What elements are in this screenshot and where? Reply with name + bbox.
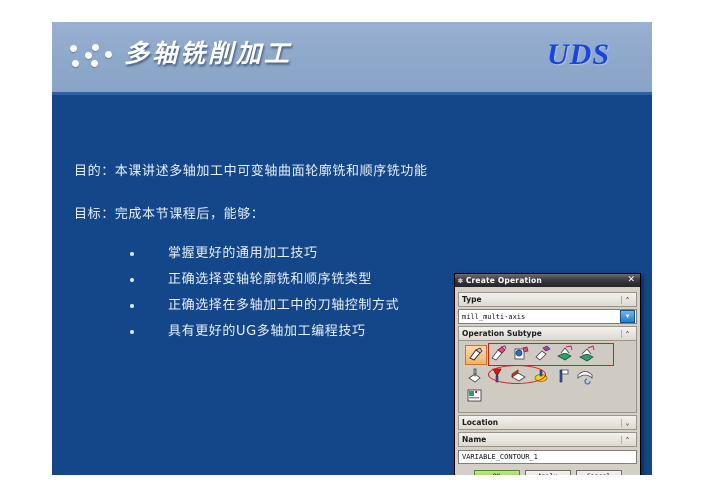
close-icon[interactable]: ✕ [625,276,637,285]
brand-logo: UDS [547,38,610,72]
dialog-titlebar[interactable]: ✽ Create Operation ✕ [455,274,640,287]
variable-contour-selected-icon[interactable] [465,345,487,365]
decorative-dots-icon [70,42,120,72]
drill-axial-icon[interactable] [487,367,507,385]
chevron-up-icon[interactable]: ⌃ [621,330,633,338]
dialog-button-bar: OK Apply Cancel [458,470,637,475]
tool-axis-interpolate-icon[interactable] [531,367,551,385]
dialog-app-icon: ✽ [458,277,463,285]
apply-button[interactable]: Apply [525,470,571,475]
sequential-mill-icon[interactable] [577,345,597,363]
section-label-name: Name [462,435,621,444]
list-item: 掌握更好的通用加工技巧 [130,243,530,269]
chevron-up-icon[interactable]: ⌃ [621,296,633,304]
subtype-icon-row-3 [465,387,633,405]
name-input-value: VARIABLE_CONTOUR_1 [459,453,538,461]
list-item-label: 正确选择变轴轮廓铣和顺序铣类型 [168,268,372,287]
goal-line: 目标：完成本节课程后，能够： [74,203,264,222]
operation-subtype-panel [458,341,637,413]
list-item-label: 掌握更好的通用加工技巧 [168,242,318,261]
chevron-down-icon[interactable]: ⌄ [621,419,633,427]
fixed-contour-icon[interactable] [533,345,553,363]
section-header-type[interactable]: Type ⌃ [458,292,637,307]
section-header-name[interactable]: Name ⌃ [458,432,637,447]
chevron-up-icon[interactable]: ⌃ [621,436,633,444]
chevron-down-icon[interactable]: ▼ [620,310,635,323]
bullet-dot-icon [130,252,134,256]
bullet-dot-icon [130,304,134,308]
list-item-label: 正确选择在多轴加工中的刀轴控制方式 [168,294,399,313]
page-title: 多轴铣削加工 [124,34,292,70]
contour-swarf-icon[interactable] [509,367,529,385]
create-operation-dialog[interactable]: ✽ Create Operation ✕ Type ⌃ mill_multi-a… [454,273,641,475]
dialog-title: Create Operation [466,276,626,285]
section-header-location[interactable]: Location ⌄ [458,415,637,430]
presentation-slide: 多轴铣削加工 UDS 目的：本课讲述多轴加工中可变轴曲面轮廓铣和顺序铣功能 目标… [52,22,652,475]
machine-control-icon[interactable] [465,387,485,405]
multi-blade-icon[interactable] [553,367,573,385]
flowcut-multi-icon[interactable] [465,367,485,385]
list-item-label: 具有更好的UG多轴加工编程技巧 [168,320,366,339]
section-label-location: Location [462,418,621,427]
slide-body: 目的：本课讲述多轴加工中可变轴曲面轮廓铣和顺序铣功能 目标：完成本节课程后，能够… [52,95,652,475]
curve-drive-icon[interactable] [575,367,595,385]
subtype-icon-row-2 [465,367,633,385]
bullet-dot-icon [130,278,134,282]
slide-header: 多轴铣削加工 UDS [52,22,652,92]
zlevel-5axis-icon[interactable] [555,345,575,363]
contour-profile-icon[interactable] [511,345,531,363]
variable-streamline-icon[interactable] [489,345,509,363]
bullet-dot-icon [130,330,134,334]
name-input[interactable]: VARIABLE_CONTOUR_1 [458,450,637,464]
subtype-icon-row-1 [465,345,633,365]
section-label-type: Type [462,295,621,304]
type-combobox[interactable]: mill_multi-axis ▼ [458,309,637,324]
type-combobox-value: mill_multi-axis [459,313,620,321]
section-label-operation-subtype: Operation Subtype [462,329,621,338]
cancel-button[interactable]: Cancel [576,470,622,475]
ok-button[interactable]: OK [474,470,520,475]
purpose-line: 目的：本课讲述多轴加工中可变轴曲面轮廓铣和顺序铣功能 [74,160,428,179]
section-header-operation-subtype[interactable]: Operation Subtype ⌃ [458,326,637,341]
